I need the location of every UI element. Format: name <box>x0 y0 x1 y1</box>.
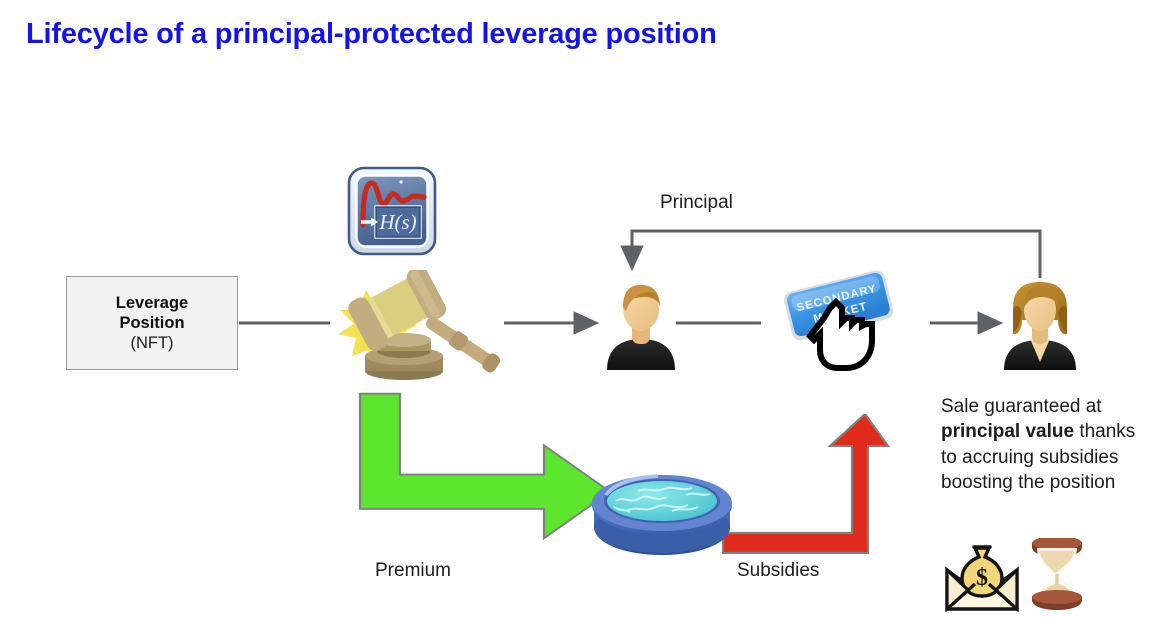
auction-gavel-icon <box>330 270 506 382</box>
label-principal: Principal <box>660 192 733 214</box>
svg-text:$: $ <box>976 565 988 591</box>
buyer-avatar-icon <box>604 278 678 370</box>
leverage-position-nft-box: Leverage Position (NFT) <box>66 276 238 370</box>
money-bag-envelope-icon: $ <box>944 540 1020 612</box>
label-subsidies: Subsidies <box>737 560 819 582</box>
subsidies-arrow <box>720 414 890 554</box>
label-premium: Premium <box>375 560 451 582</box>
hs-icon-label: H(s) <box>378 210 416 234</box>
hourglass-icon <box>1028 538 1086 612</box>
nft-box-line-2: Position <box>119 313 184 333</box>
liquidity-pool-icon <box>586 467 738 559</box>
seller-avatar-icon <box>1000 278 1080 370</box>
secondary-market-button-icon[interactable]: SECONDARY MARKET <box>778 256 904 380</box>
nft-box-line-1: Leverage <box>116 293 188 313</box>
diagram-canvas: Lifecycle of a principal-protected lever… <box>0 0 1152 617</box>
sale-guarantee-annotation: Sale guaranteed at principal value thank… <box>941 394 1146 495</box>
annotation-bold: principal value <box>941 421 1074 442</box>
nft-box-line-3: (NFT) <box>130 333 173 353</box>
premium-arrow <box>358 392 618 552</box>
annotation-part-1: Sale guaranteed at <box>941 396 1102 417</box>
transfer-function-icon: H(s) <box>344 163 444 263</box>
